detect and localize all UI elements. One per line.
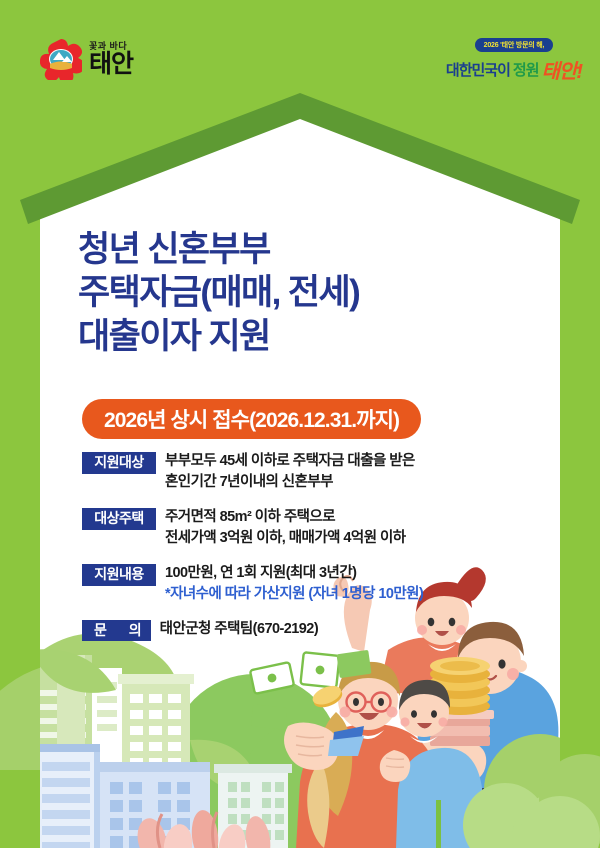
badge-target-housing: 대상주택 (82, 508, 156, 530)
slogan-word-1: 대한민국이 (446, 59, 510, 80)
title-line-3: 대출이자 지원 (78, 315, 359, 358)
text-support-content: 100만원, 연 1회 지원(최대 3년간) *자녀수에 따라 가산지원 (자녀… (165, 563, 423, 606)
inquiry-line-1: 태안군청 주택팀(670-2192) (160, 621, 318, 637)
visit-taean-slogan: 2026 '태안 방문의 해, 대한민국이 정원 태안! (446, 38, 582, 84)
support-content-line-1: 100만원, 연 1회 지원(최대 3년간) (165, 565, 356, 581)
detail-row-support-target: 지원대상 부부모두 45세 이하로 주택자금 대출을 받은 혼인기간 7년이내의… (82, 451, 522, 494)
taean-logo-name: 태안 (89, 53, 133, 77)
application-period-banner: 2026년 상시 접수(2026.12.31.까지) (82, 399, 421, 439)
target-housing-line-1: 주거면적 85m² 이하 주택으로 (165, 509, 335, 525)
taean-flower-logo-icon (40, 38, 82, 80)
slogan-word-3: 태안! (542, 55, 582, 84)
taean-logo: 꽃과 바다 태안 (40, 38, 133, 80)
badge-support-content: 지원내용 (82, 564, 156, 586)
page-title: 청년 신혼부부 주택자금(매매, 전세) 대출이자 지원 (78, 228, 359, 358)
detail-row-target-housing: 대상주택 주거면적 85m² 이하 주택으로 전세가액 3억원 이하, 매매가액… (82, 507, 522, 550)
poster-canvas: 꽃과 바다 태안 2026 '태안 방문의 해, 대한민국이 정원 태안! 청년… (0, 0, 600, 848)
badge-support-target: 지원대상 (82, 452, 156, 474)
badge-inquiry: 문 의 (82, 620, 151, 642)
detail-row-inquiry: 문 의 태안군청 주택팀(670-2192) (82, 619, 522, 642)
visit-taean-pill: 2026 '태안 방문의 해, (475, 38, 554, 52)
title-line-1: 청년 신혼부부 (78, 228, 359, 271)
support-content-note: *자녀수에 따라 가산지원 (자녀 1명당 10만원) (165, 586, 423, 602)
detail-row-support-content: 지원내용 100만원, 연 1회 지원(최대 3년간) *자녀수에 따라 가산지… (82, 563, 522, 606)
text-support-target: 부부모두 45세 이하로 주택자금 대출을 받은 혼인기간 7년이내의 신혼부부 (165, 451, 415, 494)
text-inquiry: 태안군청 주택팀(670-2192) (160, 619, 318, 640)
text-target-housing: 주거면적 85m² 이하 주택으로 전세가액 3억원 이하, 매매가액 4억원 … (165, 507, 406, 550)
slogan-word-2: 정원 (513, 59, 539, 80)
support-target-line-2: 혼인기간 7년이내의 신혼부부 (165, 474, 333, 490)
target-housing-line-2: 전세가액 3억원 이하, 매매가액 4억원 이하 (165, 530, 406, 546)
support-target-line-1: 부부모두 45세 이하로 주택자금 대출을 받은 (165, 453, 415, 469)
detail-rows: 지원대상 부부모두 45세 이하로 주택자금 대출을 받은 혼인기간 7년이내의… (82, 451, 522, 652)
title-line-2: 주택자금(매매, 전세) (78, 271, 359, 314)
